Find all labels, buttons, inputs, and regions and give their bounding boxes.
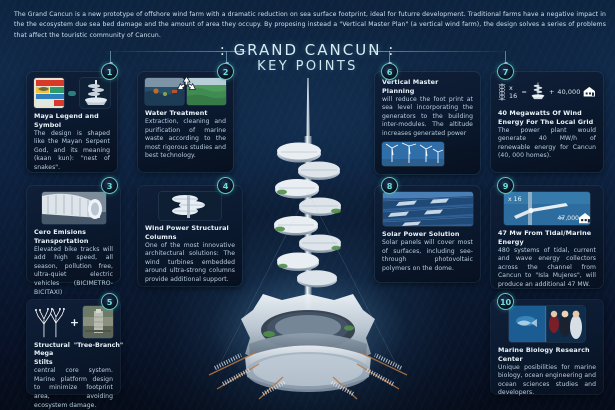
tower-render-image <box>80 78 110 108</box>
title-main-text: GRAND CANCUN <box>234 41 382 59</box>
card-1-body: The design is shaped like the Mayan Serp… <box>34 130 110 173</box>
mayan-glyph-image <box>34 78 64 108</box>
card-7-title: 40 Megawatts Of Wind Energy For The Loca… <box>498 109 596 126</box>
turbine-column-image <box>159 192 221 220</box>
card-wind-energy-grid[interactable]: x 16 = + 40,000 40 M <box>491 72 603 172</box>
aquarium-visitors-image <box>509 306 585 342</box>
elevated-transit-image <box>42 192 106 224</box>
card-cero-emisions-transportation[interactable]: Cero Emisions Transportation Elevated bi… <box>27 186 120 282</box>
card-5-title-line1: Structural <box>34 342 70 350</box>
badge-2[interactable]: 2 <box>217 63 234 80</box>
title-bracket-right: : <box>388 41 395 59</box>
badge-1[interactable]: 1 <box>101 63 118 80</box>
card-8-title: Solar Power Solution <box>382 230 473 239</box>
turbine-unit-icon <box>498 79 506 105</box>
house-icon <box>583 83 596 100</box>
grand-cancun-tower-icon <box>530 78 546 105</box>
card-5-plus: + <box>70 317 79 328</box>
house-icon <box>578 212 590 224</box>
card-structural-mega-stilts[interactable]: + Structural <box>27 300 120 394</box>
card-6-body: will reduce the foot print at sea level … <box>382 96 473 139</box>
infographic-poster: The Grand Cancun is a new prototype of o… <box>0 0 615 410</box>
card-solar-power-solution[interactable]: Solar Power Solution Solar panels will c… <box>375 186 480 282</box>
card-10-title: Marine Biology Research Center <box>498 346 596 363</box>
card-7-equation: x 16 = + 40,000 <box>498 78 596 105</box>
glyph-tower-link-dot <box>68 91 76 96</box>
page-title: : GRAND CANCUN : <box>0 42 615 59</box>
card-9-title: 47 Mw From Tidal/Marine Energy <box>498 229 596 246</box>
card-2-title: Water Treatment <box>145 109 226 118</box>
card-7-plus: + <box>549 88 554 96</box>
solar-panel-array-image <box>383 192 473 226</box>
tree-branch-diagram-icon <box>34 306 66 338</box>
tidal-turbine-image: x 16 = 47,000 <box>504 192 590 225</box>
card-7-body: The power plant would generate 40 MW/h o… <box>498 127 596 161</box>
intro-paragraph: The Grand Cancun is a new prototype of o… <box>14 10 606 41</box>
card-5-title-line2: Mega Stilts <box>34 350 70 367</box>
card-3-body: Elevated bike tracks will add high speed… <box>34 246 113 298</box>
badge-8[interactable]: 8 <box>381 177 398 194</box>
wind-turbine-field-image <box>382 142 444 166</box>
badge-6[interactable]: 6 <box>381 63 398 80</box>
card-9-value: 47,000 <box>557 215 579 222</box>
card-tidal-marine-energy[interactable]: x 16 = 47,000 47 Mw From Tidal/Marine En… <box>491 186 603 288</box>
card-9-multiplier: x 16 <box>508 196 522 203</box>
badge-9[interactable]: 9 <box>497 177 514 194</box>
card-5-title-aux: "Tree-Branch" <box>74 342 123 350</box>
card-10-body: Unique posibilities for marine biology, … <box>498 364 596 398</box>
title-bracket-left: : <box>220 41 227 59</box>
stilt-structure-photo <box>83 306 113 338</box>
card-3-title: Cero Emisions Transportation <box>34 228 113 245</box>
recycle-icon <box>177 76 196 97</box>
badge-10[interactable]: 10 <box>497 293 514 310</box>
card-8-body: Solar panels will cover most of surfaces… <box>382 239 473 273</box>
card-6-title: Vertical Master Planning <box>382 78 473 95</box>
badge-7[interactable]: 7 <box>497 63 514 80</box>
card-5-body: central core system. Marine platform des… <box>34 367 113 410</box>
page-subtitle: KEY POINTS <box>0 59 615 75</box>
card-4-body: One of the most innovative architectural… <box>145 242 235 285</box>
card-5-title-row: Structural Mega Stilts "Tree-Branch" <box>34 342 113 367</box>
card-2-body: Extraction, cleaning and purification of… <box>145 118 226 161</box>
badge-3[interactable]: 3 <box>101 177 118 194</box>
card-1-images <box>34 78 110 108</box>
card-4-title: Wind Power Structural Columns <box>145 224 235 241</box>
card-9-body: 480 systems of tidal, current and wave e… <box>498 247 596 290</box>
card-5-images: + <box>34 306 113 338</box>
card-marine-biology-research-center[interactable]: Marine Biology Research Center Unique po… <box>491 300 603 394</box>
card-1-title: Maya Legend and Symbol <box>34 112 110 129</box>
card-wind-power-structural-columns[interactable]: Wind Power Structural Columns One of the… <box>138 186 242 286</box>
card-vertical-master-planning[interactable]: Vertical Master Planning will reduce the… <box>375 72 480 174</box>
poster-title-block: : GRAND CANCUN : KEY POINTS <box>0 42 615 75</box>
card-maya-legend[interactable]: Maya Legend and Symbol The design is sha… <box>27 72 117 172</box>
badge-5[interactable]: 5 <box>101 293 118 310</box>
badge-4[interactable]: 4 <box>217 177 234 194</box>
card-7-value: 40,000 <box>557 88 580 96</box>
card-water-treatment[interactable]: Water Treatment Extraction, cleaning and… <box>138 72 233 172</box>
card-7-multiplier: x 16 <box>509 84 519 100</box>
card-7-equals: = <box>522 88 527 96</box>
